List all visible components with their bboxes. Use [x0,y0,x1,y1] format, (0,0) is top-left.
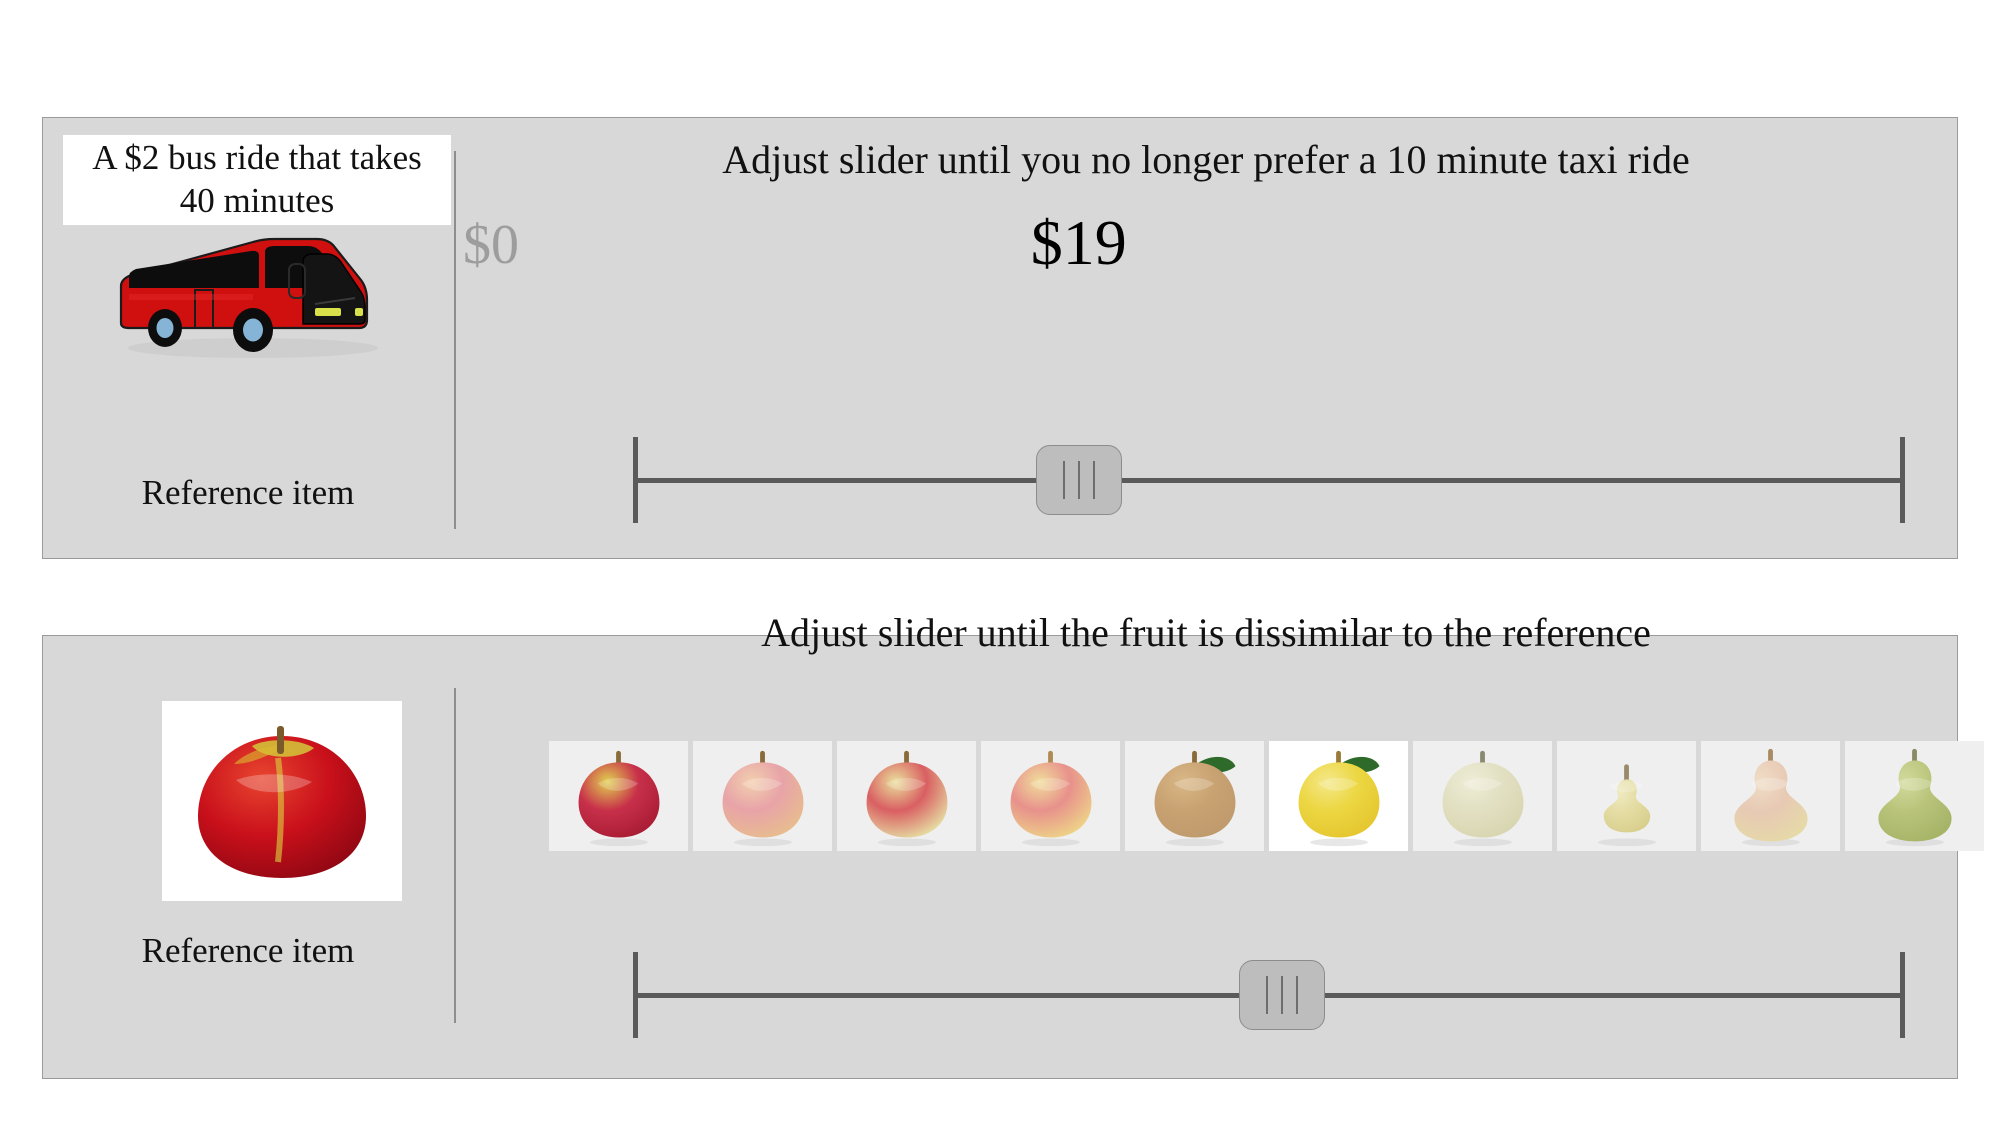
fruit-option-peach-apple[interactable] [981,741,1120,851]
grip-lines-icon [1093,461,1095,499]
fruit-option-strip[interactable] [549,741,1984,851]
slider-handle[interactable] [1239,960,1325,1030]
peach-apple-icon [995,747,1107,851]
slider-track[interactable] [635,478,1903,483]
fruit-task-panel: Reference item Adjust slider until the f… [42,635,1958,1079]
task-column-fruit: Adjust slider until the fruit is dissimi… [455,636,1957,1078]
reference-column-price: A $2 bus ride that takes 40 minutes [43,118,453,558]
reference-caption: Reference item [43,931,453,971]
bus-image [103,228,393,358]
fruit-option-red-yellow-apple[interactable] [837,741,976,851]
fruit-option-tan-pear-apple[interactable] [1125,741,1264,851]
green-pear-icon [1859,747,1971,851]
task-prompt: Adjust slider until you no longer prefer… [455,136,1957,183]
reference-caption: Reference item [43,473,453,513]
task-column-price: Adjust slider until you no longer prefer… [455,118,1957,558]
reference-description-box: A $2 bus ride that takes 40 minutes [63,135,451,225]
fruit-option-red-apple[interactable] [549,741,688,851]
fruit-option-pale-green-apple[interactable] [1413,741,1552,851]
fruit-option-pink-apple[interactable] [693,741,832,851]
grip-lines-icon [1063,461,1065,499]
fruit-option-yellow-apple-leaf[interactable] [1269,741,1408,851]
fruit-option-green-pear[interactable] [1845,741,1984,851]
grip-lines-icon [1281,976,1283,1014]
page-canvas: A $2 bus ride that takes 40 minutes [0,0,2000,1125]
fruit-option-blush-pear[interactable] [1701,741,1840,851]
grip-lines-icon [1296,976,1298,1014]
reference-column-fruit: Reference item [43,636,453,1078]
price-task-panel: A $2 bus ride that takes 40 minutes [42,117,1958,559]
red-apple-icon [563,747,675,851]
grip-lines-icon [1078,461,1080,499]
pale-green-apple-icon [1427,747,1539,851]
grip-lines-icon [1266,976,1268,1014]
tan-pear-apple-icon [1139,747,1251,851]
fruit-option-small-yellow-pear[interactable] [1557,741,1696,851]
price-current-label: $19 [1031,206,1127,280]
red-apple-image [162,701,402,901]
blush-pear-icon [1715,747,1827,851]
red-yellow-apple-icon [851,747,963,851]
price-slider[interactable] [455,428,1957,528]
small-yellow-pear-icon [1571,747,1683,851]
pink-apple-icon [707,747,819,851]
yellow-apple-leaf-icon [1283,747,1395,851]
price-min-label: $0 [463,213,519,277]
fruit-slider[interactable] [455,943,1957,1043]
task-prompt: Adjust slider until the fruit is dissimi… [455,609,1957,656]
slider-handle[interactable] [1036,445,1122,515]
